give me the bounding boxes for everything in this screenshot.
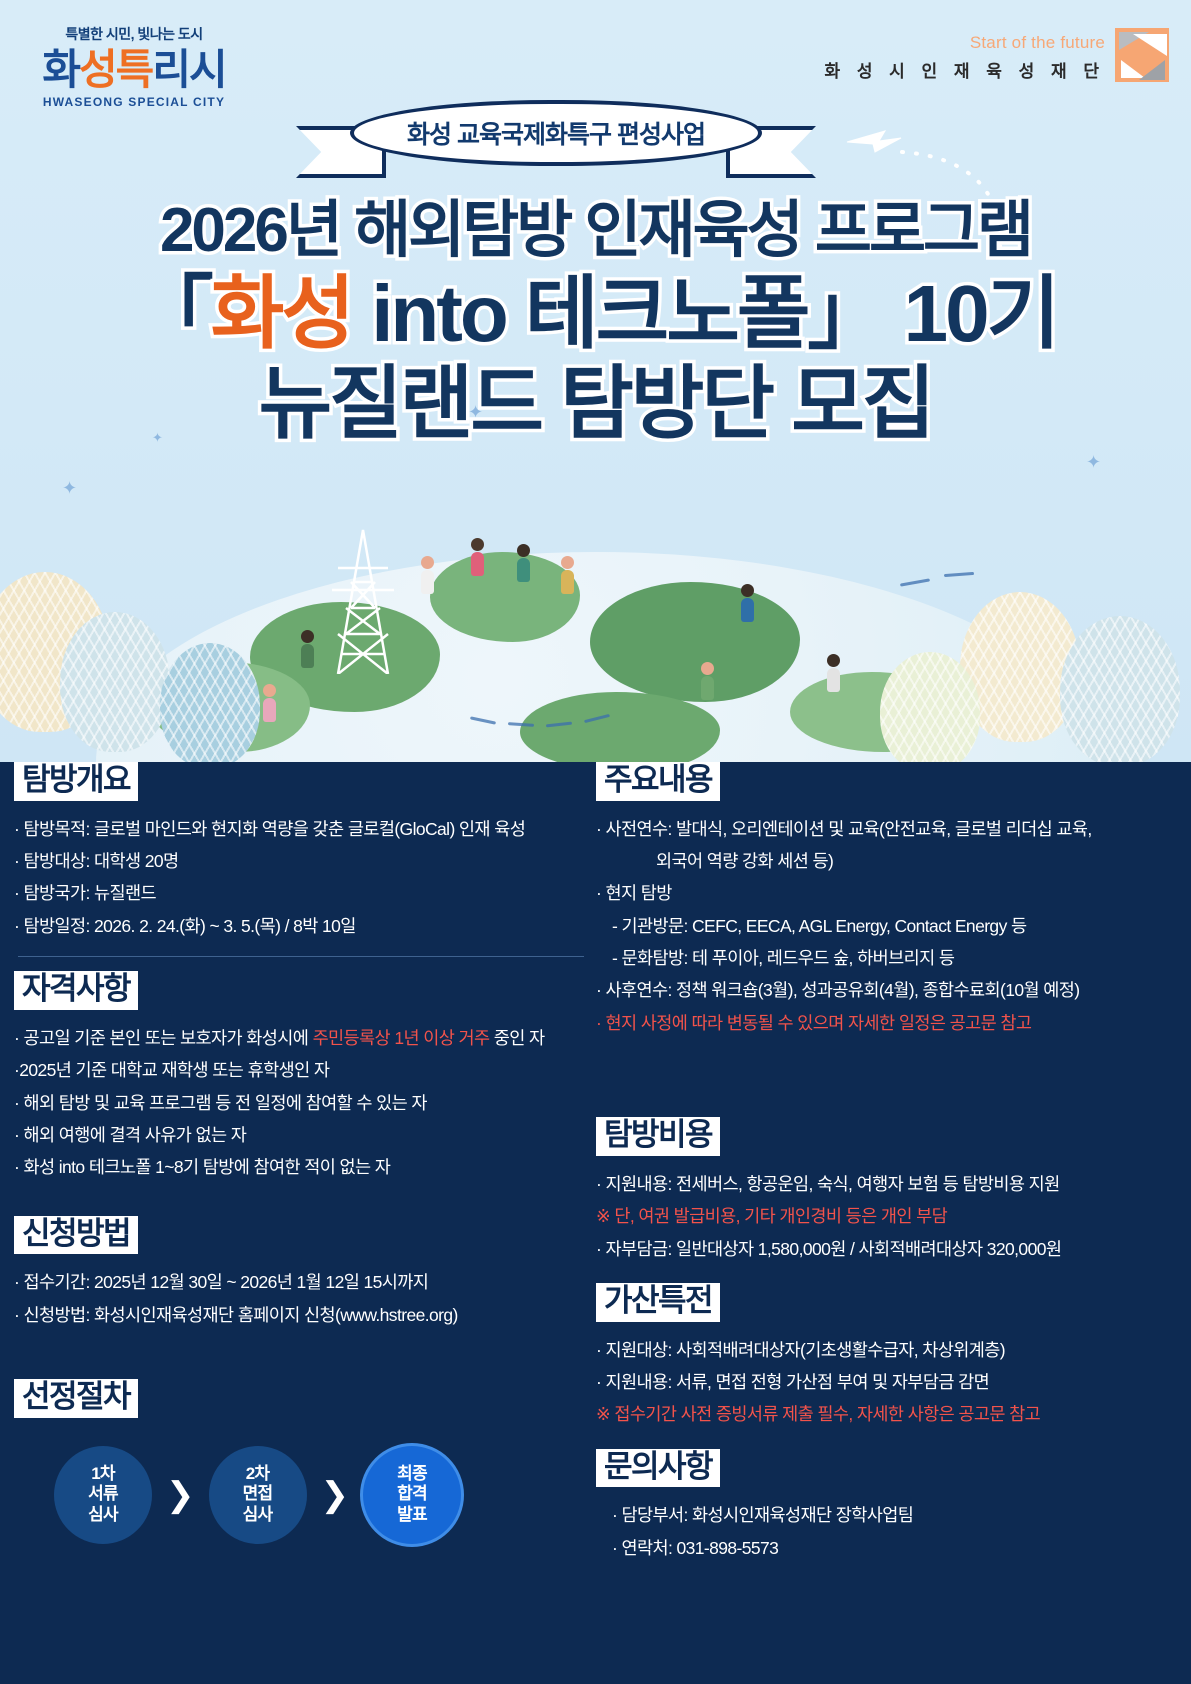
airplane-icon (845, 128, 905, 154)
contents-item: · 사후연수: 정책 워크숍(3월), 성과공유회(4월), 종합수료회(10월… (596, 976, 1186, 1004)
overview-item: · 탐방목적: 글로벌 마인드와 현지화 역량을 갖춘 글로컬(GloCal) … (14, 815, 594, 843)
section-heading-bonus: 가산특전 (596, 1283, 720, 1322)
illustration-scene (0, 462, 1191, 762)
ribbon-label: 화성 교육국제화특구 편성사업 (407, 115, 705, 151)
contents-item: · 현지 탐방 (596, 879, 1186, 907)
foundation-logo-text: Start of the future 화 성 시 인 재 육 성 재 단 (824, 33, 1105, 82)
process-step-3: 최종 합격 발표 (363, 1446, 461, 1544)
ribbon-body: 화성 교육국제화특구 편성사업 (350, 100, 762, 166)
process-step-2-line2: 면접 (243, 1484, 273, 1505)
eligibility-item: · 공고일 기준 본인 또는 보호자가 화성시에 주민등록상 1년 이상 거주 … (14, 1024, 594, 1052)
city-wordmark-part3: 리시 (152, 46, 225, 93)
eligibility-item: · 화성 into 테크노폴 1~8기 탐방에 참여한 적이 없는 자 (14, 1153, 594, 1181)
section-divider (18, 956, 584, 957)
route-dash (944, 572, 974, 577)
spacer (596, 1041, 1186, 1087)
ribbon-banner: 화성 교육국제화특구 편성사업 (296, 96, 816, 188)
person-figure (740, 584, 754, 622)
paper-plane-icon (1115, 28, 1169, 82)
eligibility-item: · 해외 여행에 결격 사유가 없는 자 (14, 1121, 594, 1149)
overview-item: · 탐방일정: 2026. 2. 24.(화) ~ 3. 5.(목) / 8박 … (14, 912, 594, 940)
right-column: 주요내용 · 사전연수: 발대식, 오리엔테이션 및 교육(안전교육, 글로벌 … (596, 762, 1186, 1566)
bonus-note: ※ 접수기간 사전 증빙서류 제출 필수, 자세한 사항은 공고문 참고 (596, 1400, 1186, 1428)
section-heading-contact: 문의사항 (596, 1449, 720, 1488)
person-figure (700, 662, 714, 700)
contents-subitem: - 문화탐방: 테 푸이아, 레드우드 숲, 하버브리지 등 (596, 944, 1186, 972)
route-dash (900, 578, 930, 586)
city-logo-english: HWASEONG SPECIAL CITY (24, 95, 244, 109)
person-figure (516, 544, 530, 582)
headline-line-3: 뉴질랜드 탐방단 모집 (0, 364, 1191, 444)
eligibility-item: ·2025년 기준 대학교 재학생 또는 휴학생인 자 (14, 1056, 594, 1084)
city-wordmark-part2: 성특 (79, 46, 152, 93)
chevron-right-icon: ❯ (317, 1478, 354, 1512)
apply-item: · 접수기간: 2025년 12월 30일 ~ 2026년 1월 12일 15시… (14, 1268, 594, 1296)
process-step-1-line2: 서류 (88, 1484, 118, 1505)
cost-note: ※ 단, 여권 발급비용, 기타 개인경비 등은 개인 부담 (596, 1202, 1186, 1230)
headline-bracket-open: 「 (134, 269, 211, 358)
headline-line-2: 「화성 into 테크노폴」 10기 (0, 274, 1191, 354)
eligibility-item-post: 중인 자 (489, 1028, 544, 1048)
contents-note: · 현지 사정에 따라 변동될 수 있으며 자세한 일정은 공고문 참고 (596, 1009, 1186, 1037)
contents-subitem: - 기관방문: CEFC, EECA, AGL Energy, Contact … (596, 912, 1186, 940)
bonus-item: · 지원내용: 서류, 면접 전형 가산점 부여 및 자부담금 감면 (596, 1368, 1186, 1396)
person-figure (560, 556, 574, 594)
cost-item: · 자부담금: 일반대상자 1,580,000원 / 사회적배려대상자 320,… (596, 1235, 1186, 1263)
section-heading-eligibility: 자격사항 (14, 971, 138, 1010)
chevron-right-icon: ❯ (162, 1478, 199, 1512)
hero-headline: 2026년 해외탐방 인재육성 프로그램 「화성 into 테크노폴」 10기 … (0, 200, 1191, 444)
process-step-3-line2: 합격 (397, 1484, 427, 1505)
eligibility-item: · 해외 탐방 및 교육 프로그램 등 전 일정에 참여할 수 있는 자 (14, 1089, 594, 1117)
section-heading-overview: 탐방개요 (14, 762, 138, 801)
contents-item: · 사전연수: 발대식, 오리엔테이션 및 교육(안전교육, 글로벌 리더십 교… (596, 815, 1186, 843)
balloon-decoration (160, 643, 260, 762)
contact-item: · 담당부서: 화성시인재육성재단 장학사업팀 (596, 1501, 1186, 1529)
process-step-2: 2차 면접 심사 (209, 1446, 307, 1544)
process-step-2-line3: 심사 (243, 1505, 273, 1526)
contents-item-continued: 외국어 역량 강화 세션 등) (596, 847, 1186, 875)
section-heading-apply: 신청방법 (14, 1216, 138, 1255)
apply-item[interactable]: · 신청방법: 화성시인재육성재단 홈페이지 신청(www.hstree.org… (14, 1301, 594, 1329)
headline-line-2-rest: into 테크노폴」 10기 (352, 269, 1057, 358)
information-panel: 탐방개요 · 탐방목적: 글로벌 마인드와 현지화 역량을 갖춘 글로컬(Glo… (0, 762, 1191, 1684)
process-step-1-line1: 1차 (91, 1464, 115, 1485)
foundation-tagline: Start of the future (824, 33, 1105, 53)
person-figure (300, 630, 314, 668)
headline-line-1: 2026년 해외탐방 인재육성 프로그램 (0, 200, 1191, 262)
continent-blob (520, 692, 720, 762)
section-heading-cost: 탐방비용 (596, 1117, 720, 1156)
person-figure (420, 556, 434, 594)
spacer (14, 1186, 594, 1216)
city-wordmark: 화성특리시 (24, 47, 244, 93)
bonus-item: · 지원대상: 사회적배려대상자(기초생활수급자, 차상위계층) (596, 1336, 1186, 1364)
left-column: 탐방개요 · 탐방목적: 글로벌 마인드와 현지화 역량을 갖춘 글로컬(Glo… (14, 762, 594, 1544)
hwaseong-city-logo: 특별한 시민, 빛나는 도시 화성특리시 HWASEONG SPECIAL CI… (24, 24, 244, 109)
spacer (596, 1433, 1186, 1449)
section-heading-contents: 주요내용 (596, 762, 720, 801)
overview-item: · 탐방국가: 뉴질랜드 (14, 879, 594, 907)
foundation-name: 화 성 시 인 재 육 성 재 단 (824, 57, 1105, 82)
foundation-logo: Start of the future 화 성 시 인 재 육 성 재 단 (824, 28, 1169, 82)
city-slogan: 특별한 시민, 빛나는 도시 (24, 24, 244, 44)
spacer (14, 1333, 594, 1379)
city-wordmark-part1: 화 (42, 46, 79, 93)
process-step-1: 1차 서류 심사 (54, 1446, 152, 1544)
balloon-decoration (60, 612, 170, 752)
eligibility-item-pre: · 공고일 기준 본인 또는 보호자가 화성시에 (14, 1028, 313, 1048)
overview-item: · 탐방대상: 대학생 20명 (14, 847, 594, 875)
process-step-3-line1: 최종 (397, 1464, 427, 1485)
person-figure (262, 684, 276, 722)
process-step-1-line3: 심사 (88, 1505, 118, 1526)
spacer (596, 1267, 1186, 1283)
contact-item[interactable]: · 연락처: 031-898-5573 (596, 1534, 1186, 1562)
person-figure (826, 654, 840, 692)
balloon-decoration (880, 652, 980, 762)
spacer (596, 1087, 1186, 1117)
cost-item: · 지원내용: 전세버스, 항공운임, 숙식, 여행자 보험 등 탐방비용 지원 (596, 1170, 1186, 1198)
selection-process-steps: 1차 서류 심사 ❯ 2차 면접 심사 ❯ 최종 합격 발표 (14, 1446, 594, 1544)
person-figure (470, 538, 484, 576)
eligibility-item-highlight: 주민등록상 1년 이상 거주 (313, 1028, 490, 1048)
headline-highlight: 화성 (211, 269, 352, 358)
process-step-3-line3: 발표 (397, 1505, 427, 1526)
section-heading-process: 선정절차 (14, 1379, 138, 1418)
power-tower-icon (318, 524, 408, 674)
process-step-2-line1: 2차 (246, 1464, 270, 1485)
balloon-decoration (1060, 616, 1180, 762)
